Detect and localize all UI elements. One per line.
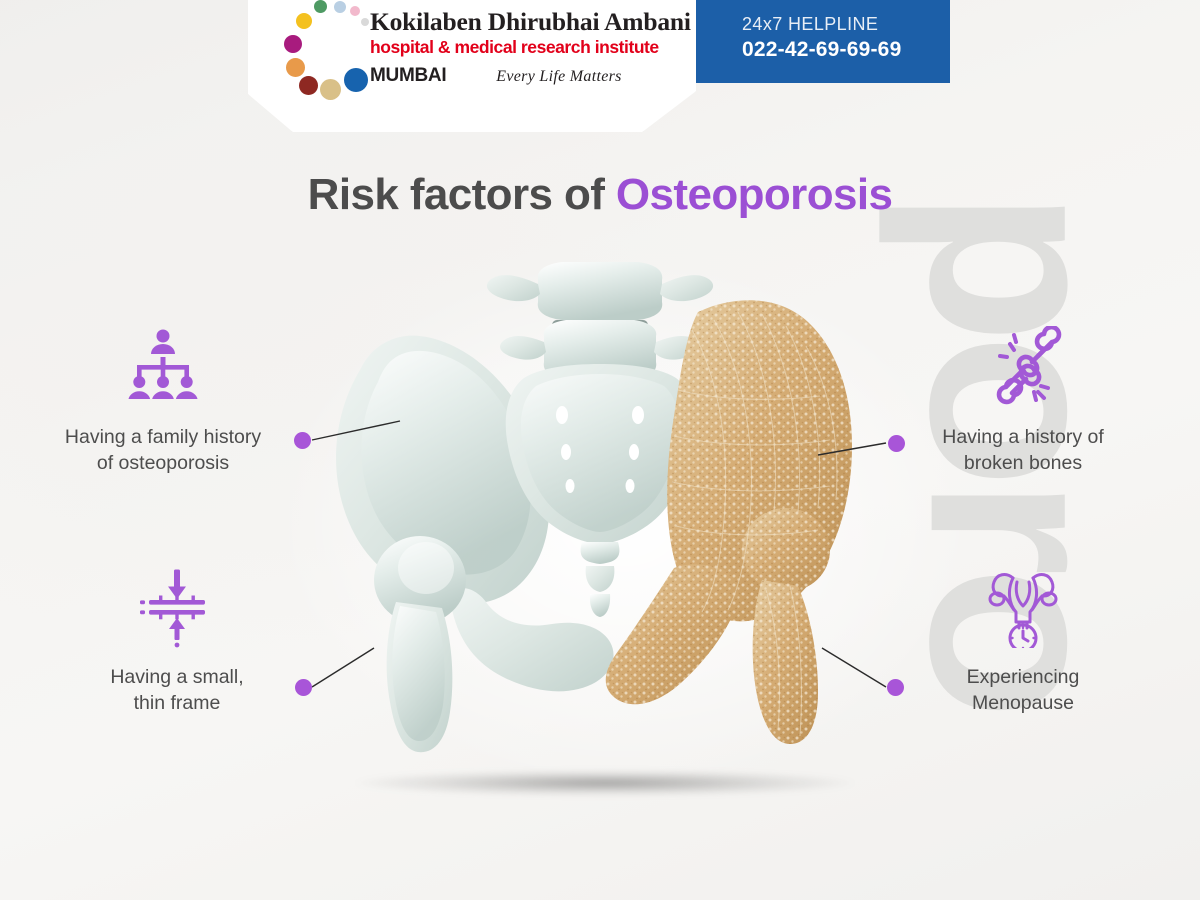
logo-tagline: Every Life Matters <box>496 68 621 86</box>
thin-frame-compress-icon <box>62 562 292 648</box>
connector-dot-broken-bones <box>888 435 905 452</box>
family-tree-icon <box>48 322 278 408</box>
pelvis-illustration <box>300 250 900 770</box>
callout-small-thin-frame: Having a small, thin frame <box>62 562 292 717</box>
helpline-content: 24x7 HELPLINE 022-42-69-69-69 <box>742 13 901 63</box>
logo-text-block: Kokilaben Dhirubhai Ambani hospital & me… <box>370 8 688 87</box>
callout-label: Experiencing Menopause <box>908 664 1138 717</box>
page-title-prefix: Risk factors of <box>308 170 616 219</box>
infographic-poster: poro 24x7 HELPLINE 022-42-69-69-69 <box>0 0 1200 900</box>
header: 24x7 HELPLINE 022-42-69-69-69 Kokilaben … <box>0 0 1200 150</box>
callout-family-history: Having a family history of osteoporosis <box>48 322 278 477</box>
broken-bone-icon <box>908 322 1138 408</box>
connector-dot-menopause <box>887 679 904 696</box>
helpline-label: 24x7 HELPLINE <box>742 13 901 36</box>
callout-label: Having a history of broken bones <box>908 424 1138 477</box>
hospital-logo-card: Kokilaben Dhirubhai Ambani hospital & me… <box>248 0 696 132</box>
helpline-number[interactable]: 022-42-69-69-69 <box>742 36 901 63</box>
uterus-clock-icon <box>908 562 1138 648</box>
illustration-shadow <box>355 770 855 796</box>
page-title: Risk factors of Osteoporosis <box>0 170 1200 220</box>
logo-ring-icon <box>276 0 368 100</box>
logo-hospital-subtitle: hospital & medical research institute <box>370 36 688 60</box>
connector-dot-small-thin-frame <box>295 679 312 696</box>
callout-label: Having a family history of osteoporosis <box>48 424 278 477</box>
connector-dot-family-history <box>294 432 311 449</box>
logo-city: MUMBAI <box>370 65 446 87</box>
logo-hospital-name: Kokilaben Dhirubhai Ambani <box>370 8 688 36</box>
helpline-banner: 24x7 HELPLINE 022-42-69-69-69 <box>664 0 950 83</box>
callout-broken-bones: Having a history of broken bones <box>908 322 1138 477</box>
callout-menopause: Experiencing Menopause <box>908 562 1138 717</box>
page-title-accent: Osteoporosis <box>616 170 892 219</box>
logo-bottom-row: MUMBAI Every Life Matters <box>370 65 688 87</box>
callout-label: Having a small, thin frame <box>62 664 292 717</box>
